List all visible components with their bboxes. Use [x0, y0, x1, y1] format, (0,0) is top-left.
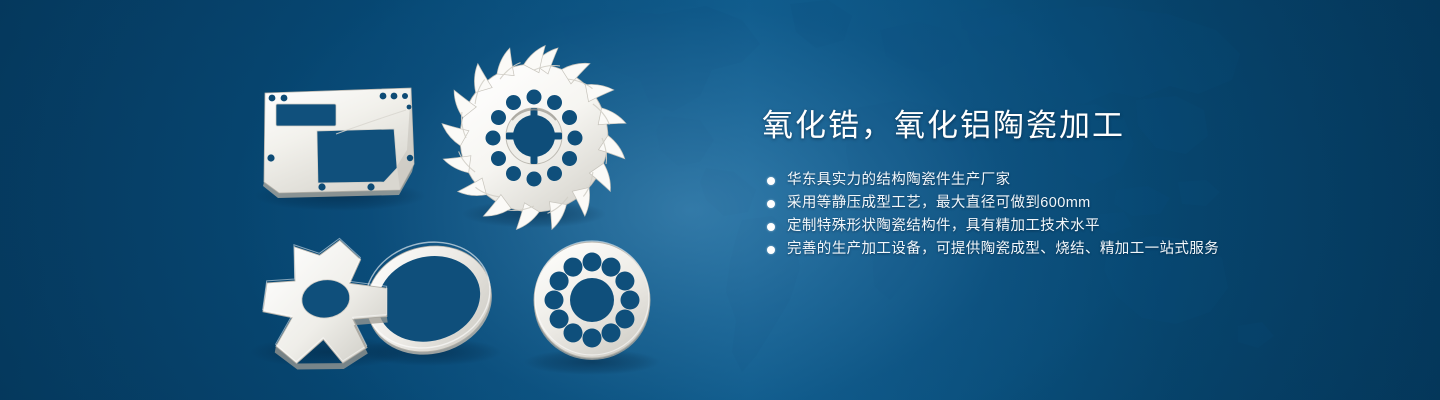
perforated-ceramic-disc — [534, 241, 650, 360]
page-title: 氧化锆，氧化铝陶瓷加工 — [762, 104, 1322, 148]
list-item-label: 定制特殊形状陶瓷结构件，具有精加工技术水平 — [787, 218, 1100, 234]
list-item: 华东具实力的结构陶瓷件生产厂家 — [762, 169, 1322, 192]
ceramic-products-collage — [0, 0, 720, 400]
banner-copy: 氧化锆，氧化铝陶瓷加工 华东具实力的结构陶瓷件生产厂家 采用等静压成型工艺，最大… — [762, 104, 1322, 261]
feature-list: 华东具实力的结构陶瓷件生产厂家 采用等静压成型工艺，最大直径可做到600mm 定… — [762, 169, 1322, 261]
bullet-dot-icon — [767, 177, 775, 185]
bullet-dot-icon — [767, 246, 775, 254]
list-item-label: 采用等静压成型工艺，最大直径可做到600mm — [787, 195, 1091, 211]
ceramic-impeller-wheel — [442, 46, 626, 230]
list-item-label: 华东具实力的结构陶瓷件生产厂家 — [787, 172, 1011, 188]
bullet-dot-icon — [767, 200, 775, 208]
promo-banner: 氧化锆，氧化铝陶瓷加工 华东具实力的结构陶瓷件生产厂家 采用等静压成型工艺，最大… — [0, 0, 1440, 400]
bullet-dot-icon — [767, 223, 775, 231]
list-item-label: 完善的生产加工设备，可提供陶瓷成型、烧结、精加工一站式服务 — [787, 241, 1219, 257]
machined-ceramic-plate — [263, 88, 414, 198]
list-item: 定制特殊形状陶瓷结构件，具有精加工技术水平 — [762, 215, 1322, 238]
list-item: 采用等静压成型工艺，最大直径可做到600mm — [762, 192, 1322, 215]
list-item: 完善的生产加工设备，可提供陶瓷成型、烧结、精加工一站式服务 — [762, 238, 1322, 261]
